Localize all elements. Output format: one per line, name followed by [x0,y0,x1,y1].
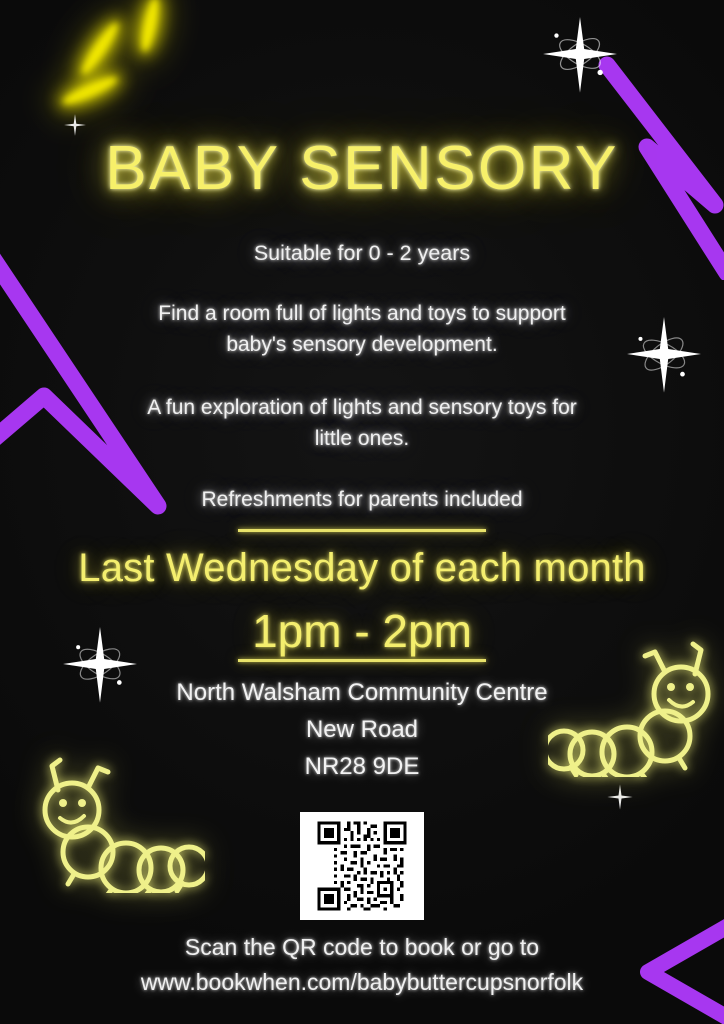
description-paragraph-1-line-1: Find a room full of lights and toys to s… [0,298,724,329]
poster-content: BABY SENSORY Suitable for 0 - 2 years Fi… [0,0,724,1024]
divider-top [238,529,486,532]
booking-footer: Scan the QR code to book or go to www.bo… [0,930,724,1000]
booking-url[interactable]: www.bookwhen.com/babybuttercupsnorfolk [0,965,724,1000]
description-paragraph-2-line-2: little ones. [0,423,724,454]
schedule-time: 1pm - 2pm [0,604,724,658]
qr-code[interactable] [300,812,424,920]
poster-canvas: BABY SENSORY Suitable for 0 - 2 years Fi… [0,0,724,1024]
venue-postcode: NR28 9DE [0,748,724,785]
venue-address: North Walsham Community Centre New Road … [0,674,724,785]
qr-code-image[interactable] [306,818,418,914]
divider-bottom [238,659,486,662]
description-paragraph-2: A fun exploration of lights and sensory … [0,392,724,454]
description-paragraph-1: Find a room full of lights and toys to s… [0,298,724,360]
venue-name: North Walsham Community Centre [0,674,724,711]
page-title: BABY SENSORY [0,133,724,204]
age-suitability-line: Suitable for 0 - 2 years [0,238,724,269]
venue-street: New Road [0,711,724,748]
description-paragraph-2-line-1: A fun exploration of lights and sensory … [0,392,724,423]
description-paragraph-1-line-2: baby's sensory development. [0,329,724,360]
refreshments-line: Refreshments for parents included [0,484,724,515]
schedule-date: Last Wednesday of each month [0,546,724,591]
booking-instruction: Scan the QR code to book or go to [0,930,724,965]
